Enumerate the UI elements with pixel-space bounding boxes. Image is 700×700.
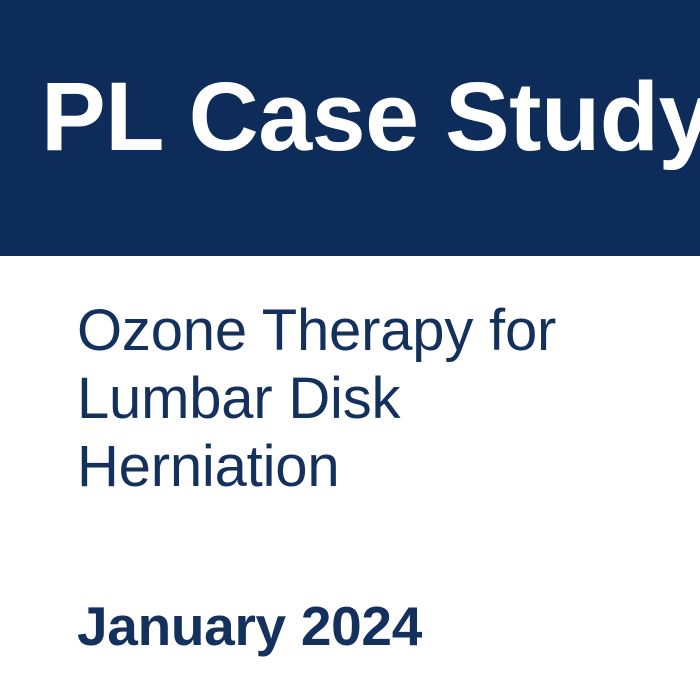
subject-title-line-2: Lumbar Disk: [77, 365, 637, 433]
slide-body: Ozone Therapy for Lumbar Disk Herniation…: [0, 256, 700, 700]
header-banner: PL Case Study: [0, 0, 700, 256]
subject-title-line-1: Ozone Therapy for: [77, 297, 637, 365]
page-title: PL Case Study: [41, 58, 700, 176]
case-study-title-slide: PL Case Study Ozone Therapy for Lumbar D…: [0, 0, 700, 700]
date-label: January 2024: [77, 593, 422, 659]
subject-title-line-3: Herniation: [77, 433, 637, 501]
subject-title: Ozone Therapy for Lumbar Disk Herniation: [77, 297, 637, 501]
